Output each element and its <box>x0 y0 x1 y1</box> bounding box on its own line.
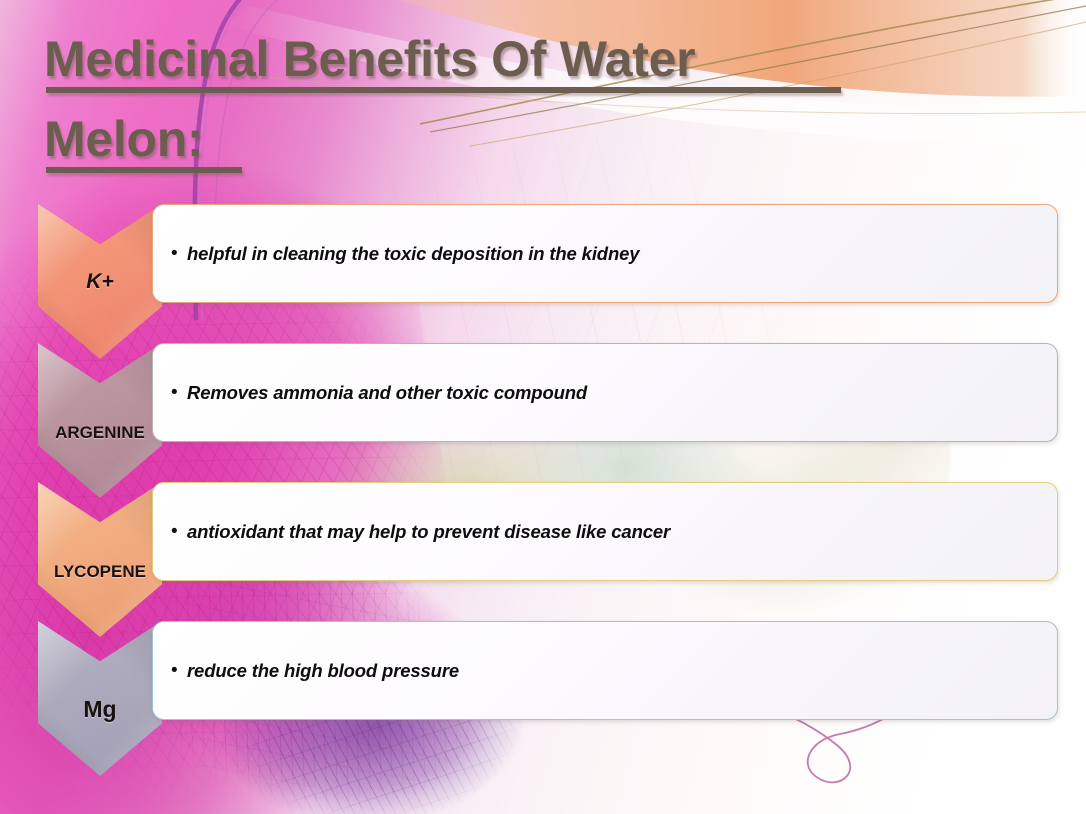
chevron-label: K+ <box>86 270 113 294</box>
bullet-icon: • <box>171 522 187 541</box>
process-row: Mg • reduce the high blood pressure <box>0 613 1086 751</box>
chevron-label: LYCOPENE <box>54 562 146 582</box>
slide-canvas: Medicinal Benefits Of Water Melon: K+ • … <box>0 0 1086 814</box>
benefit-card-lycopene[interactable]: • antioxidant that may help to prevent d… <box>152 482 1058 581</box>
chevron-label: Mg <box>83 696 116 723</box>
benefit-text: Removes ammonia and other toxic compound <box>187 382 587 404</box>
chevron-mg[interactable]: Mg <box>38 621 162 776</box>
bullet-icon: • <box>171 661 187 680</box>
process-row: LYCOPENE • antioxidant that may help to … <box>0 474 1086 612</box>
bullet-icon: • <box>171 383 187 402</box>
bullet-icon: • <box>171 244 187 263</box>
benefit-card-mg[interactable]: • reduce the high blood pressure <box>152 621 1058 720</box>
process-row: ARGENINE • Removes ammonia and other tox… <box>0 335 1086 473</box>
benefit-card-k-plus[interactable]: • helpful in cleaning the toxic depositi… <box>152 204 1058 303</box>
benefit-text: reduce the high blood pressure <box>187 660 459 682</box>
benefit-text: antioxidant that may help to prevent dis… <box>187 521 670 543</box>
process-row: K+ • helpful in cleaning the toxic depos… <box>0 196 1086 334</box>
benefit-card-argenine[interactable]: • Removes ammonia and other toxic compou… <box>152 343 1058 442</box>
benefit-text: helpful in cleaning the toxic deposition… <box>187 243 639 265</box>
process-list: K+ • helpful in cleaning the toxic depos… <box>0 0 1086 814</box>
chevron-label: ARGENINE <box>55 423 145 443</box>
